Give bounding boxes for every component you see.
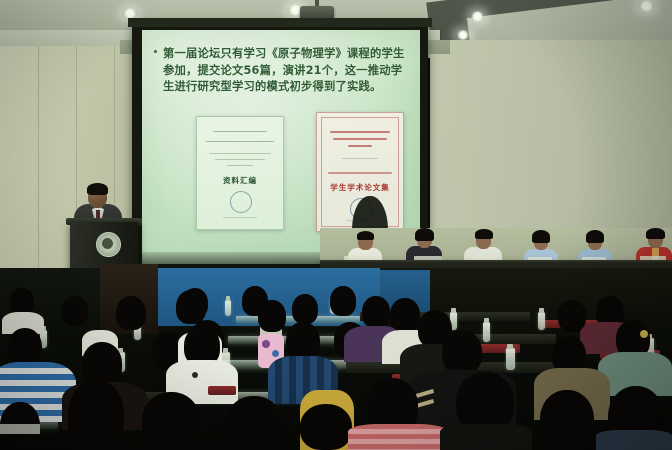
screen-roller-housing [128,18,432,27]
audience-pink-polo [348,424,448,450]
doc-text-line [348,145,372,147]
audience-head [292,294,318,324]
bottle-cap-icon [223,348,228,353]
doc-text-line [333,138,387,140]
slide-document-proceedings: 资料汇编 [196,116,284,230]
panelist-hair [357,231,374,240]
university-seal-center [102,238,113,249]
downlight-icon [638,0,655,12]
slide-bullet-icon [154,50,157,53]
audience-head [116,296,146,330]
doc-text-line [215,159,265,160]
doc-title-cn: 资料汇编 [197,175,283,186]
slide-line-1: 第一届论坛只有学习《原子物理学》课程的学生 [163,46,411,63]
panelist-hair [646,228,665,239]
audience-shirt [596,430,672,450]
audience-head [362,296,390,328]
water-bottle [483,322,490,342]
audience-head [182,288,208,318]
audience-dark-top [440,424,532,450]
water-bottle [225,300,231,316]
hair-clip-icon [640,330,648,338]
audience-head [8,328,42,366]
audience-head [330,286,356,316]
audience-head-foreground [540,390,594,450]
audience-head-foreground [226,396,282,450]
slide-line-2: 参加，提交论文56篇，演讲21个，这一推动学 [163,63,411,80]
speaker-hair [87,183,108,195]
doc-text-line [330,131,390,133]
doc-text-line [206,141,274,142]
floral-bag-pattern [272,350,279,357]
panelist-hair [532,230,550,243]
audience-head [82,342,122,386]
doc-text-line [342,158,378,159]
audience-head [286,322,320,360]
bottle-cap-icon [451,308,456,313]
seat-back [208,386,236,395]
slide-line-3: 生进行研究型学习的模式初步得到了实践。 [163,79,411,96]
audience-head [390,298,420,332]
downlight-icon [456,30,470,40]
panelist-hair [475,229,493,239]
doc-title-cn: 学生学术论文集 [322,182,398,193]
doc-text-line [328,172,392,174]
doc-text-line [209,153,271,154]
water-bottle [506,348,515,370]
audience-head-foreground [68,380,124,450]
panelist-hair [586,230,604,243]
doc-text-line [227,165,253,166]
audience-head [442,330,482,374]
audience-head-foreground [142,392,200,450]
slide-text-block: 第一届论坛只有学习《原子物理学》课程的学生 参加，提交论文56篇，演讲21个，这… [163,46,411,96]
downlight-icon [470,11,485,22]
notebook [0,424,40,434]
polo-logo-icon [192,372,198,378]
bottle-cap-icon [539,308,544,313]
floral-bag-pattern [262,340,270,348]
doc-text-line [213,131,267,132]
lecture-hall-photo: 第一届论坛只有学习《原子物理学》课程的学生 参加，提交论文56篇，演讲21个，这… [0,0,672,450]
panelist-hair [415,228,434,241]
bottle-cap-icon [507,344,513,349]
bottle-cap-icon [484,318,489,323]
audience-head-foreground [456,372,514,432]
audience-head [62,296,88,326]
bottle-cap-icon [226,296,230,301]
audience-head [258,300,286,332]
audience-head-foreground [300,404,352,450]
doc-text-line [223,217,257,218]
doc-seal-icon [230,191,252,213]
water-bottle [538,312,545,330]
